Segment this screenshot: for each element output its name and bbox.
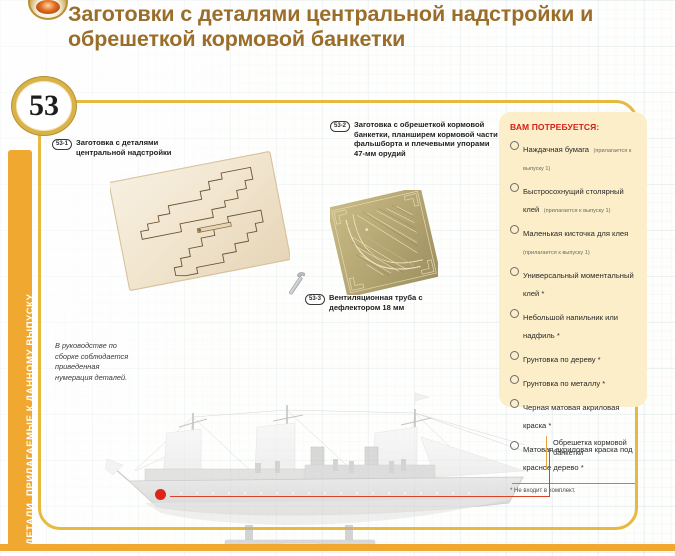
material-item[interactable]: Маленькая кисточка для клея (прилагается… [510, 223, 637, 259]
callout-text: Обрешетка кормовой банкетки [553, 438, 633, 458]
material-item[interactable]: Грунтовка по металлу * [510, 373, 637, 391]
part-text-53-2: Заготовка с обрешеткой кормовой банкетки… [354, 120, 500, 159]
material-label: Небольшой напильник или надфиль * [523, 313, 618, 340]
page-title: Заготовки с деталями центральной надстро… [68, 2, 628, 52]
material-item[interactable]: Небольшой напильник или надфиль * [510, 307, 637, 343]
material-item[interactable]: Универсальный моментальный клей * [510, 265, 637, 301]
callout-marker [155, 489, 166, 500]
callout-leader-horizontal [170, 496, 550, 497]
checkbox-icon[interactable] [510, 267, 519, 276]
assembly-note: В руководстве по сборке соблюдается прив… [55, 341, 133, 383]
checkbox-icon[interactable] [510, 141, 519, 150]
issue-number-value: 53 [29, 91, 59, 121]
material-item[interactable]: Грунтовка по дереву * [510, 349, 637, 367]
callout-leader-vertical [549, 448, 550, 497]
checkbox-icon[interactable] [510, 399, 519, 408]
callout-accent-bar [546, 436, 547, 470]
material-label: Наждачная бумага [523, 145, 589, 154]
bottom-accent-strip [0, 544, 675, 551]
material-label: Грунтовка по металлу * [523, 379, 605, 388]
part-sheet-53-1 [110, 150, 290, 295]
material-label: Грунтовка по дереву * [523, 355, 601, 364]
checkbox-icon[interactable] [510, 375, 519, 384]
materials-heading: ВАМ ПОТРЕБУЕТСЯ: [510, 122, 637, 132]
part-label-53-2: 53-2 Заготовка с обрешеткой кормовой бан… [330, 120, 500, 159]
part-code-53-2: 53-2 [330, 121, 350, 132]
issue-number-badge: 53 [12, 77, 76, 135]
checkbox-icon[interactable] [510, 441, 519, 450]
material-sublabel: (прилагается к выпуску 1) [523, 250, 590, 256]
emblem-logo-inner [36, 0, 60, 14]
material-label: Универсальный моментальный клей * [523, 271, 634, 298]
checkbox-icon[interactable] [510, 351, 519, 360]
part-label-53-3: 53-3 Вентиляционная труба с дефлектором … [305, 293, 465, 312]
material-item[interactable]: Наждачная бумага (прилагается к выпуску … [510, 139, 637, 175]
materials-footnote: * Не входит в комплект. [510, 488, 637, 494]
material-label: Черная матовая акриловая краска * [523, 403, 619, 430]
material-item[interactable]: Черная матовая акриловая краска * [510, 397, 637, 433]
material-item[interactable]: Быстросохнущий столярный клей (прилагает… [510, 181, 637, 217]
part-fret-53-2 [330, 190, 438, 295]
checkbox-icon[interactable] [510, 183, 519, 192]
sidebar-vertical-label: ДЕТАЛИ, ПРИЛАГАЕМЫЕ К ДАННОМУ ВЫПУСКУ [25, 294, 32, 545]
checkbox-icon[interactable] [510, 309, 519, 318]
checkbox-icon[interactable] [510, 225, 519, 234]
sidebar-vertical-tab: ДЕТАЛИ, ПРИЛАГАЕМЫЕ К ДАННОМУ ВЫПУСКУ [8, 150, 32, 550]
part-text-53-3: Вентиляционная труба с дефлектором 18 мм [329, 293, 465, 312]
materials-panel: ВАМ ПОТРЕБУЕТСЯ: Наждачная бумага (прила… [499, 112, 647, 407]
ship-model-photo [105, 385, 555, 550]
material-sublabel: (прилагается к выпуску 1) [544, 208, 611, 214]
part-code-53-1: 53-1 [52, 139, 72, 150]
materials-divider [512, 483, 635, 484]
part-vent-53-3 [283, 270, 317, 302]
material-label: Маленькая кисточка для клея [523, 229, 628, 238]
